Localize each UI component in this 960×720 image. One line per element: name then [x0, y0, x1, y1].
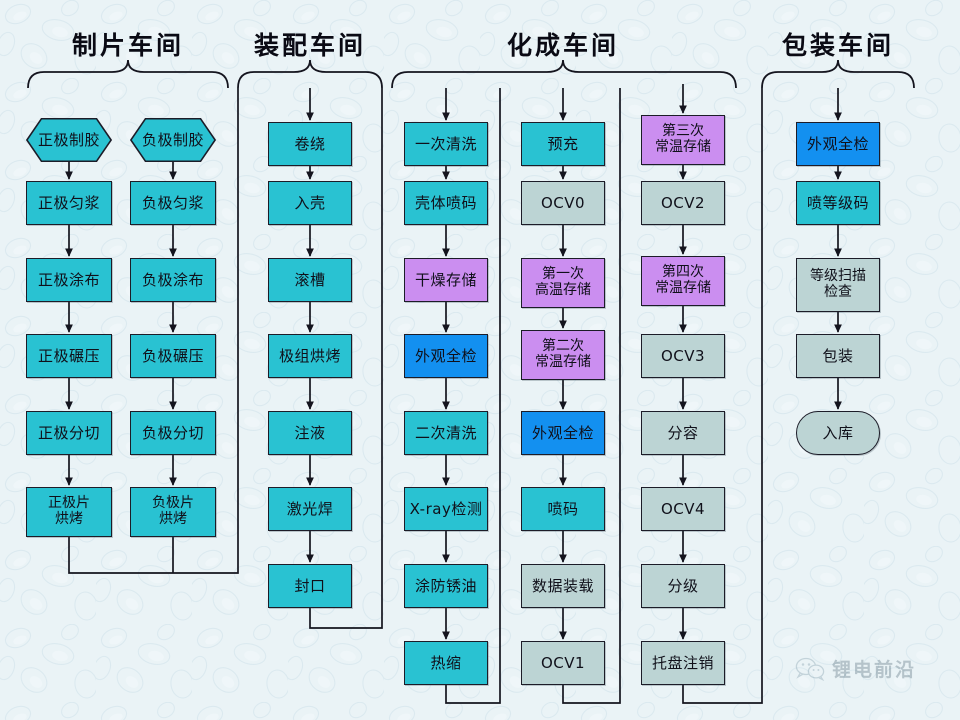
flowchart-canvas: 制片车间装配车间化成车间包装车间正极制胶正极匀浆正极涂布正极碾压正极分切正极片 …: [0, 0, 960, 720]
process-node-n2[interactable]: 正极匀浆: [26, 181, 112, 225]
process-node-a2[interactable]: 入壳: [268, 181, 352, 225]
node-layer: 制片车间装配车间化成车间包装车间正极制胶正极匀浆正极涂布正极碾压正极分切正极片 …: [0, 0, 960, 720]
process-node-d8[interactable]: 托盘注销: [641, 641, 725, 685]
process-node-a5[interactable]: 注液: [268, 411, 352, 455]
process-node-m5[interactable]: 负极分切: [130, 411, 216, 455]
process-node-a7[interactable]: 封口: [268, 564, 352, 608]
process-node-d7[interactable]: 分级: [641, 564, 725, 608]
process-node-a4[interactable]: 极组烘烤: [268, 334, 352, 378]
process-node-b8[interactable]: 热缩: [404, 641, 488, 685]
process-node-c1[interactable]: 预充: [521, 122, 605, 166]
process-node-n5[interactable]: 正极分切: [26, 411, 112, 455]
process-node-m3[interactable]: 负极涂布: [130, 258, 216, 302]
process-node-c7[interactable]: 数据装载: [521, 564, 605, 608]
process-node-b6[interactable]: X-ray检测: [404, 487, 488, 531]
process-node-d6[interactable]: OCV4: [641, 487, 725, 531]
process-node-m4[interactable]: 负极碾压: [130, 334, 216, 378]
process-node-n3[interactable]: 正极涂布: [26, 258, 112, 302]
process-node-c2[interactable]: OCV0: [521, 181, 605, 225]
section-title-formation: 化成车间: [473, 26, 653, 62]
process-node-c6[interactable]: 喷码: [521, 487, 605, 531]
process-node-d5[interactable]: 分容: [641, 411, 725, 455]
process-node-c5[interactable]: 外观全检: [521, 411, 605, 455]
process-node-n6[interactable]: 正极片 烘烤: [26, 487, 112, 537]
process-node-e2[interactable]: 喷等级码: [796, 181, 880, 225]
process-node-c3[interactable]: 第一次 高温存储: [521, 258, 605, 308]
process-node-c8[interactable]: OCV1: [521, 641, 605, 685]
process-node-b2[interactable]: 壳体喷码: [404, 181, 488, 225]
process-node-a3[interactable]: 滚槽: [268, 258, 352, 302]
process-node-d4[interactable]: OCV3: [641, 334, 725, 378]
process-node-n4[interactable]: 正极碾压: [26, 334, 112, 378]
process-node-e5[interactable]: 入库: [796, 411, 880, 455]
process-node-e1[interactable]: 外观全检: [796, 122, 880, 166]
process-node-b4[interactable]: 外观全检: [404, 334, 488, 378]
process-node-label: 负极制胶: [142, 132, 204, 149]
section-title-assembly: 装配车间: [220, 26, 400, 62]
process-node-e4[interactable]: 包装: [796, 334, 880, 378]
process-node-m2[interactable]: 负极匀浆: [130, 181, 216, 225]
process-node-a1[interactable]: 卷绕: [268, 122, 352, 166]
process-node-e3[interactable]: 等级扫描 检查: [796, 258, 880, 312]
section-title-sheet: 制片车间: [38, 26, 218, 62]
process-node-b5[interactable]: 二次清洗: [404, 411, 488, 455]
process-node-d1[interactable]: 第三次 常温存储: [641, 115, 725, 165]
process-node-b1[interactable]: 一次清洗: [404, 122, 488, 166]
process-node-c4[interactable]: 第二次 常温存储: [521, 330, 605, 380]
process-node-d3[interactable]: 第四次 常温存储: [641, 256, 725, 306]
process-node-a6[interactable]: 激光焊: [268, 487, 352, 531]
process-node-d2[interactable]: OCV2: [641, 181, 725, 225]
process-node-n1[interactable]: 正极制胶: [26, 118, 112, 162]
process-node-m1[interactable]: 负极制胶: [130, 118, 216, 162]
process-node-m6[interactable]: 负极片 烘烤: [130, 487, 216, 537]
section-title-packaging: 包装车间: [748, 26, 928, 62]
process-node-label: 正极制胶: [38, 132, 100, 149]
process-node-b7[interactable]: 涂防锈油: [404, 564, 488, 608]
process-node-b3[interactable]: 干燥存储: [404, 258, 488, 302]
